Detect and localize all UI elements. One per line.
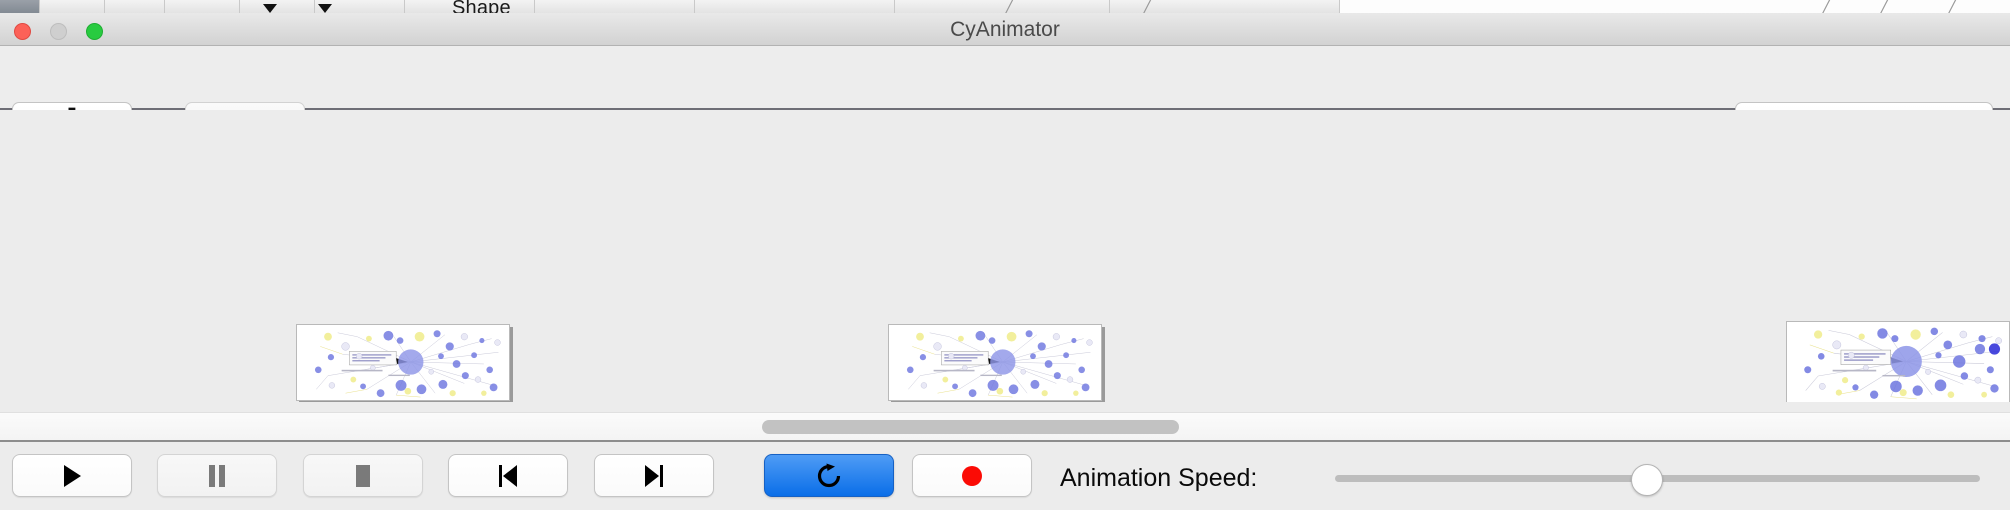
playback-control-bar: Animation Speed: <box>0 444 2010 510</box>
bg-caret-icon <box>318 4 332 13</box>
network-thumbnail-image <box>1787 322 2009 402</box>
animation-speed-label: Animation Speed: <box>1060 464 1257 493</box>
stop-button[interactable] <box>303 454 423 497</box>
bg-chevron-icon: ╱ <box>1143 1 1156 13</box>
timeline-frame-thumbnail[interactable] <box>888 324 1102 401</box>
window-title: CyAnimator <box>0 13 2010 46</box>
pause-icon <box>207 463 227 489</box>
play-button[interactable] <box>12 454 132 497</box>
bg-tab <box>165 0 240 13</box>
pause-button[interactable] <box>157 454 277 497</box>
bg-tab <box>105 0 165 13</box>
skip-previous-icon <box>496 463 520 489</box>
previous-frame-button[interactable] <box>448 454 568 497</box>
bg-caret-icon <box>263 4 277 13</box>
bg-chevron-icon: ╱ <box>1880 1 1893 13</box>
bg-tab <box>40 0 105 13</box>
bg-chevron-icon: ╱ <box>1822 1 1835 13</box>
bg-chevron-icon: ╱ <box>1005 1 1018 13</box>
background-window-strip: Shape ╱ ╱ ╱ ╱ ╱ <box>0 0 2010 13</box>
bg-chevron-icon: ╱ <box>1948 1 1961 13</box>
timeline-horizontal-scrollbar[interactable] <box>0 412 2010 442</box>
play-icon <box>61 463 83 489</box>
next-frame-button[interactable] <box>594 454 714 497</box>
bg-tab <box>695 0 895 13</box>
timeline-frame-thumbnail[interactable] <box>296 324 510 401</box>
scrollbar-thumb[interactable] <box>762 420 1179 434</box>
timeline-panel[interactable]: 2 13 14 15 16 17 18 Seconds <box>0 110 2010 402</box>
network-thumbnail-image <box>889 325 1101 400</box>
timeline-frame-thumbnail[interactable] <box>1786 321 2010 402</box>
bg-window-text: Shape <box>452 0 511 13</box>
network-thumbnail-image <box>297 325 509 400</box>
title-bar: CyAnimator <box>0 13 2010 46</box>
bg-tab <box>535 0 695 13</box>
record-icon <box>960 464 984 488</box>
loop-button[interactable] <box>764 454 894 497</box>
cyanimator-window: Shape ╱ ╱ ╱ ╱ ╱ CyAnimator ✚ <box>0 0 2010 510</box>
bg-tab <box>240 0 315 13</box>
loop-icon <box>815 462 843 490</box>
skip-next-icon <box>642 463 666 489</box>
stop-icon <box>352 463 374 489</box>
bg-tab <box>0 0 40 13</box>
bg-tab <box>895 0 1110 13</box>
toolbar: ✚ Clear All Frames <box>0 46 2010 110</box>
animation-speed-slider-thumb[interactable] <box>1631 464 1663 496</box>
record-button[interactable] <box>912 454 1032 497</box>
